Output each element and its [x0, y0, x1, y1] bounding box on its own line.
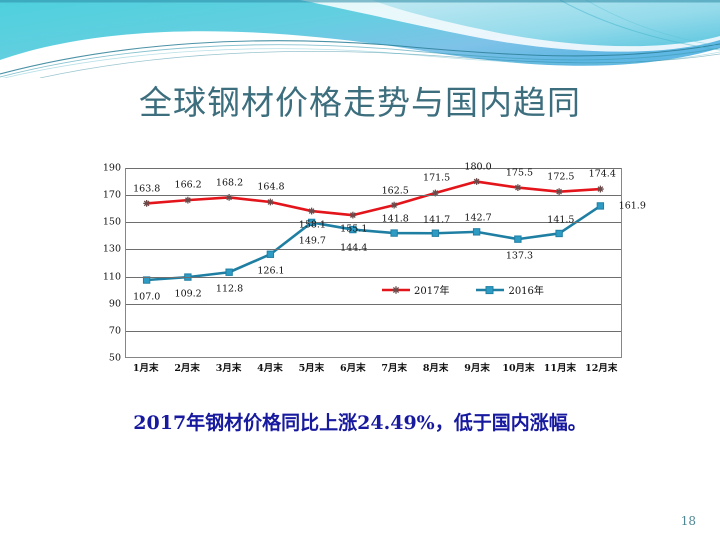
- series-marker: [473, 178, 480, 185]
- page-number: 18: [681, 514, 696, 528]
- legend-item-2[interactable]: 2016年: [475, 282, 543, 297]
- series-marker: [226, 269, 232, 275]
- series-marker: [308, 208, 315, 215]
- y-axis-tick-label: 130: [103, 244, 121, 255]
- x-axis-tick-label: 11月末: [544, 360, 576, 374]
- chart-gridline: [126, 331, 621, 332]
- chart-gridline: [126, 195, 621, 196]
- series-marker: [267, 199, 274, 206]
- slide-caption: 2017年钢材价格同比上涨24.49%，低于国内涨幅。: [0, 408, 720, 435]
- legend-swatch: [475, 284, 505, 296]
- chart-series-graphic: [126, 168, 621, 357]
- y-axis-tick-label: 110: [103, 271, 121, 282]
- x-axis-tick-label: 12月末: [585, 360, 617, 374]
- x-axis-tick-label: 4月末: [257, 360, 283, 374]
- series-marker: [184, 197, 191, 204]
- y-axis-tick-label: 50: [109, 353, 121, 364]
- series-marker: [514, 184, 521, 191]
- legend-swatch: [381, 284, 411, 296]
- legend-item-1[interactable]: 2017年: [381, 282, 449, 297]
- series-marker: [391, 202, 398, 209]
- x-axis-tick-label: 3月末: [216, 360, 242, 374]
- x-axis-tick-label: 9月末: [464, 360, 490, 374]
- series-marker: [267, 251, 273, 257]
- y-axis-tick-label: 90: [109, 298, 121, 309]
- legend-label: 2016年: [508, 282, 543, 297]
- chart-gridline: [126, 277, 621, 278]
- data-point-label: 161.9: [619, 201, 646, 212]
- series-marker: [515, 236, 521, 242]
- series-marker: [473, 229, 479, 235]
- chart-gridline: [126, 249, 621, 250]
- page-title: 全球钢材价格走势与国内趋同: [0, 80, 720, 126]
- y-axis-tick-label: 70: [109, 325, 121, 336]
- series-marker: [597, 186, 604, 193]
- series-marker: [556, 188, 563, 195]
- chart-gridline: [126, 168, 621, 169]
- series-marker: [349, 212, 356, 219]
- series-marker: [556, 230, 562, 236]
- series-marker: [391, 230, 397, 236]
- slide-canvas: 全球钢材价格走势与国内趋同 507090110130150170190 163.…: [0, 0, 720, 540]
- line-chart: 507090110130150170190 163.8166.2168.2164…: [96, 160, 636, 372]
- x-axis-tick-label: 10月末: [502, 360, 534, 374]
- series-marker: [432, 230, 438, 236]
- chart-gridline: [126, 304, 621, 305]
- y-axis-tick-label: 150: [103, 217, 121, 228]
- chart-gridline: [126, 222, 621, 223]
- y-axis-tick-label: 190: [103, 163, 121, 174]
- banner-wave-graphic: [0, 0, 720, 78]
- series-marker: [143, 277, 149, 283]
- chart-plot-area: 163.8166.2168.2164.8158.1155.1162.5171.5…: [125, 168, 622, 358]
- x-axis-tick-label: 7月末: [381, 360, 407, 374]
- x-axis-tick-labels: 1月末2月末3月末4月末5月末6月末7月末8月末9月末10月末11月末12月末: [125, 360, 622, 376]
- x-axis-tick-label: 8月末: [423, 360, 449, 374]
- header-banner-decoration: [0, 0, 720, 78]
- series-marker: [350, 226, 356, 232]
- series-marker: [143, 200, 150, 207]
- chart-legend: 2017年2016年: [381, 282, 544, 297]
- series-marker: [597, 203, 603, 209]
- series-line-2: [147, 206, 601, 280]
- y-axis-tick-label: 170: [103, 190, 121, 201]
- legend-label: 2017年: [414, 282, 449, 297]
- x-axis-tick-label: 2月末: [174, 360, 200, 374]
- series-line-1: [147, 182, 601, 216]
- x-axis-tick-label: 1月末: [133, 360, 159, 374]
- x-axis-tick-label: 5月末: [299, 360, 325, 374]
- x-axis-tick-label: 6月末: [340, 360, 366, 374]
